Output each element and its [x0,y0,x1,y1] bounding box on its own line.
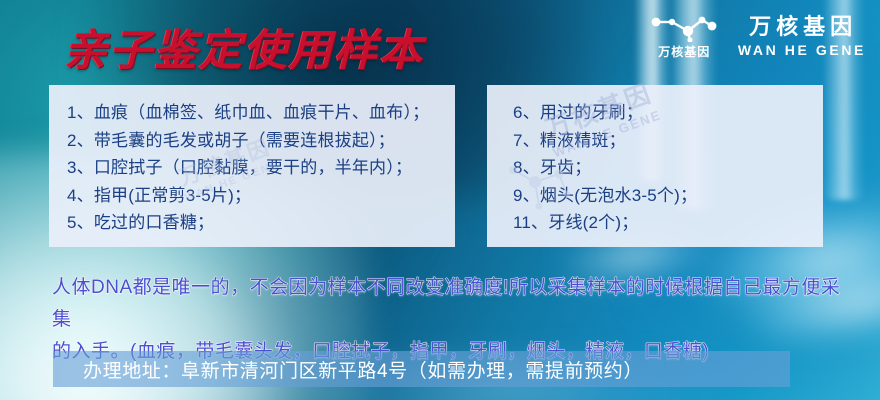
list-item: 5、吃过的口香糖； [67,209,455,237]
list-item: 9、烟头(无泡水3-5个)； [513,182,823,210]
sample-list-right: 6、用过的牙刷； 7、精液精斑； 8、牙齿； 9、烟头(无泡水3-5个)； 11… [487,85,823,247]
logo-mark-label: 万核基因 [658,43,710,60]
paragraph-line-1: 人体DNA都是唯一的，不会因为样本不同改变准确度!所以采集样本的时候根据自己最方… [52,272,852,336]
sample-list-left: 1、血痕（血棉签、纸巾血、血痕干片、血布）； 2、带毛囊的毛发或胡子（需要连根拔… [49,85,455,247]
brand-logo: 万核基因 万核基因 WAN HE GENE [647,10,866,62]
list-item: 1、血痕（血棉签、纸巾血、血痕干片、血布）； [67,99,455,127]
list-item: 7、精液精斑； [513,127,823,155]
address-banner: 办理地址：阜新市清河门区新平路4号（如需办理，需提前预约） [53,351,790,387]
molecule-icon [650,12,718,42]
list-item: 3、口腔拭子（口腔黏膜，要干的，半年内）； [67,154,455,182]
poster-canvas: 万核基因 万核基因 WAN HE GENE 亲子鉴定使用样本 1、血痕（血棉签、… [0,0,880,400]
logo-wordmark: 万核基因 WAN HE GENE [735,14,866,58]
list-item: 8、牙齿； [513,154,823,182]
address-text: 办理地址：阜新市清河门区新平路4号（如需办理，需提前预约） [53,356,643,383]
list-item: 2、带毛囊的毛发或胡子（需要连根拔起）； [67,127,455,155]
logo-mark: 万核基因 [647,10,721,62]
brand-name-cn: 万核基因 [744,14,857,39]
page-title: 亲子鉴定使用样本 [64,16,424,78]
list-item: 6、用过的牙刷； [513,99,823,127]
list-item: 11、牙线(2个)； [513,209,823,237]
brand-name-en: WAN HE GENE [735,42,866,58]
list-item: 4、指甲(正常剪3-5片)； [67,182,455,210]
